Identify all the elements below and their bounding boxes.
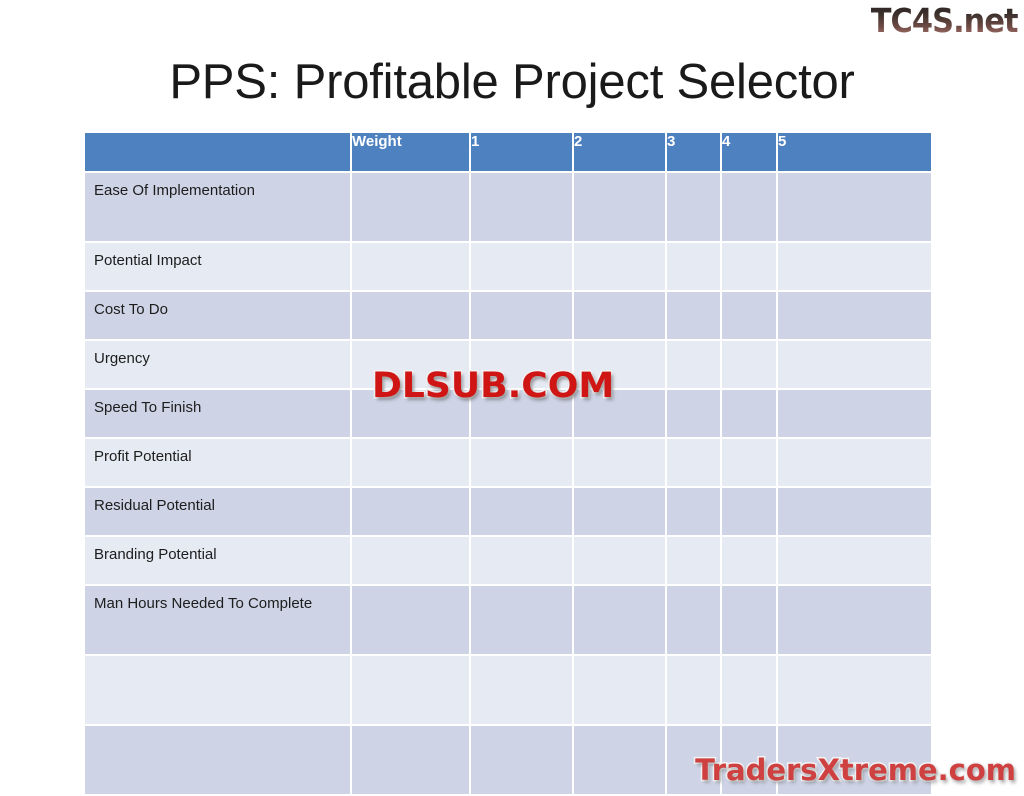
criterion-label: Urgency xyxy=(85,341,352,390)
score-cell-score_3[interactable] xyxy=(667,173,722,243)
score-cell-score_2[interactable] xyxy=(574,341,667,390)
table-row: Urgency xyxy=(85,341,931,390)
score-cell-score_1[interactable] xyxy=(471,656,574,726)
score-cell-score_2[interactable] xyxy=(574,390,667,439)
table-body: Ease Of ImplementationPotential ImpactCo… xyxy=(85,173,931,796)
tc4s-logo: TC4S.net xyxy=(871,4,1018,37)
score-cell-score_4[interactable] xyxy=(722,439,778,488)
score-cell-score_2[interactable] xyxy=(574,537,667,586)
score-cell-score_5[interactable] xyxy=(778,488,931,537)
table-row xyxy=(85,656,931,726)
score-cell-score_2[interactable] xyxy=(574,243,667,292)
score-cell-score_1[interactable] xyxy=(471,439,574,488)
score-cell-score_4[interactable] xyxy=(722,243,778,292)
score-cell-weight[interactable] xyxy=(352,173,471,243)
score-cell-score_2[interactable] xyxy=(574,292,667,341)
table-row: Residual Potential xyxy=(85,488,931,537)
criterion-label: Profit Potential xyxy=(85,439,352,488)
score-cell-score_4[interactable] xyxy=(722,656,778,726)
score-cell-score_2[interactable] xyxy=(574,173,667,243)
score-cell-weight[interactable] xyxy=(352,726,471,796)
score-cell-score_1[interactable] xyxy=(471,243,574,292)
score-cell-score_5[interactable] xyxy=(778,243,931,292)
table-row: Man Hours Needed To Complete xyxy=(85,586,931,656)
score-cell-weight[interactable] xyxy=(352,243,471,292)
score-cell-score_4[interactable] xyxy=(722,173,778,243)
score-cell-score_1[interactable] xyxy=(471,726,574,796)
score-cell-score_1[interactable] xyxy=(471,390,574,439)
criterion-label: Ease Of Implementation xyxy=(85,173,352,243)
score-cell-score_3[interactable] xyxy=(667,243,722,292)
criterion-label xyxy=(85,656,352,726)
score-cell-score_5[interactable] xyxy=(778,390,931,439)
score-cell-weight[interactable] xyxy=(352,292,471,341)
score-cell-score_5[interactable] xyxy=(778,173,931,243)
score-cell-score_1[interactable] xyxy=(471,341,574,390)
criterion-label: Man Hours Needed To Complete xyxy=(85,586,352,656)
criterion-label xyxy=(85,726,352,796)
criterion-label: Branding Potential xyxy=(85,537,352,586)
score-cell-score_3[interactable] xyxy=(667,439,722,488)
score-cell-score_3[interactable] xyxy=(667,537,722,586)
score-cell-score_4[interactable] xyxy=(722,292,778,341)
score-cell-score_1[interactable] xyxy=(471,537,574,586)
table-header-row: Weight 1 2 3 4 5 xyxy=(85,133,931,173)
score-cell-score_5[interactable] xyxy=(778,292,931,341)
score-cell-score_4[interactable] xyxy=(722,488,778,537)
score-cell-score_1[interactable] xyxy=(471,586,574,656)
criterion-label: Potential Impact xyxy=(85,243,352,292)
score-cell-weight[interactable] xyxy=(352,488,471,537)
score-cell-weight[interactable] xyxy=(352,390,471,439)
criterion-label: Speed To Finish xyxy=(85,390,352,439)
column-header-score-1[interactable]: 1 xyxy=(471,133,574,173)
table-row: Potential Impact xyxy=(85,243,931,292)
column-header-score-5[interactable]: 5 xyxy=(778,133,931,173)
score-cell-score_3[interactable] xyxy=(667,586,722,656)
score-cell-score_4[interactable] xyxy=(722,586,778,656)
page-title: PPS: Profitable Project Selector xyxy=(0,57,1024,108)
column-header-score-2[interactable]: 2 xyxy=(574,133,667,173)
score-cell-score_3[interactable] xyxy=(667,341,722,390)
project-scoring-table: Weight 1 2 3 4 5 Ease Of ImplementationP… xyxy=(85,133,931,796)
score-cell-weight[interactable] xyxy=(352,586,471,656)
score-cell-weight[interactable] xyxy=(352,341,471,390)
table-row: Branding Potential xyxy=(85,537,931,586)
score-cell-score_3[interactable] xyxy=(667,292,722,341)
criterion-label: Cost To Do xyxy=(85,292,352,341)
table-row: Profit Potential xyxy=(85,439,931,488)
score-cell-score_2[interactable] xyxy=(574,439,667,488)
score-cell-score_1[interactable] xyxy=(471,173,574,243)
column-header-criterion[interactable] xyxy=(85,133,352,173)
score-cell-score_5[interactable] xyxy=(778,341,931,390)
score-cell-score_2[interactable] xyxy=(574,656,667,726)
score-cell-score_3[interactable] xyxy=(667,656,722,726)
score-cell-weight[interactable] xyxy=(352,439,471,488)
score-cell-score_5[interactable] xyxy=(778,439,931,488)
table-row: Speed To Finish xyxy=(85,390,931,439)
score-cell-score_5[interactable] xyxy=(778,537,931,586)
column-header-score-3[interactable]: 3 xyxy=(667,133,722,173)
score-cell-weight[interactable] xyxy=(352,656,471,726)
score-cell-score_5[interactable] xyxy=(778,586,931,656)
score-cell-score_2[interactable] xyxy=(574,488,667,537)
score-cell-score_5[interactable] xyxy=(778,656,931,726)
table-row: Ease Of Implementation xyxy=(85,173,931,243)
column-header-weight[interactable]: Weight xyxy=(352,133,471,173)
score-cell-score_4[interactable] xyxy=(722,341,778,390)
score-cell-score_4[interactable] xyxy=(722,537,778,586)
table-header: Weight 1 2 3 4 5 xyxy=(85,133,931,173)
score-cell-score_1[interactable] xyxy=(471,488,574,537)
score-cell-score_1[interactable] xyxy=(471,292,574,341)
score-cell-score_3[interactable] xyxy=(667,390,722,439)
score-cell-weight[interactable] xyxy=(352,537,471,586)
score-cell-score_3[interactable] xyxy=(667,488,722,537)
tradersxtreme-logo: TradersXtreme.com xyxy=(695,756,1016,785)
table-row: Cost To Do xyxy=(85,292,931,341)
score-cell-score_4[interactable] xyxy=(722,390,778,439)
score-cell-score_2[interactable] xyxy=(574,586,667,656)
criterion-label: Residual Potential xyxy=(85,488,352,537)
score-cell-score_2[interactable] xyxy=(574,726,667,796)
column-header-score-4[interactable]: 4 xyxy=(722,133,778,173)
